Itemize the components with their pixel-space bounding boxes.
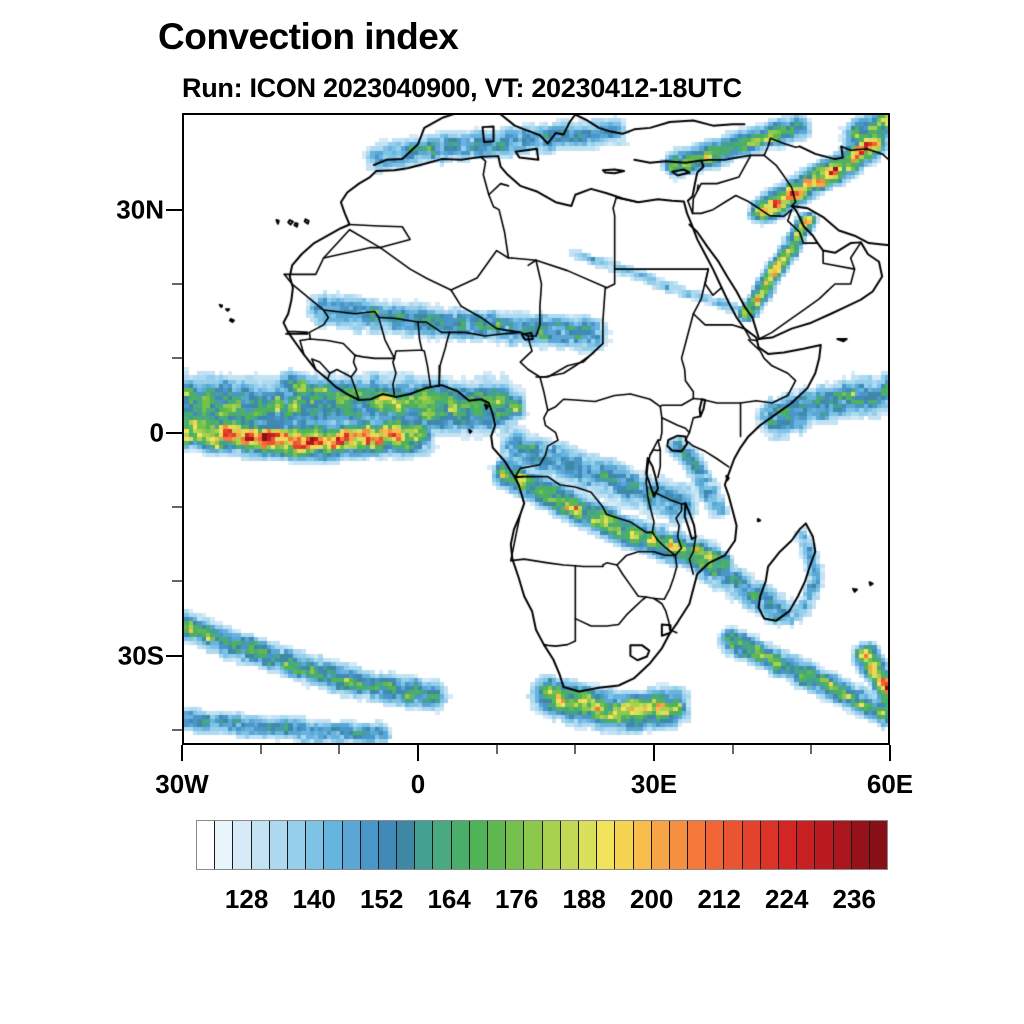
colorbar-tick-label: 188 bbox=[562, 884, 605, 915]
colorbar-swatch bbox=[470, 821, 488, 869]
colorbar-tick-label: 164 bbox=[427, 884, 470, 915]
colorbar-tick-label: 128 bbox=[225, 884, 268, 915]
y-major-tick bbox=[166, 209, 182, 211]
x-minor-tick bbox=[810, 745, 812, 754]
colorbar-swatch bbox=[797, 821, 815, 869]
x-tick-label: 30E bbox=[631, 769, 677, 800]
colorbar-swatch bbox=[452, 821, 470, 869]
x-tick-label: 0 bbox=[411, 769, 425, 800]
y-major-tick bbox=[166, 655, 182, 657]
x-minor-tick bbox=[496, 745, 498, 754]
map-plot-area bbox=[182, 113, 890, 745]
colorbar-swatch bbox=[652, 821, 670, 869]
colorbar-swatch bbox=[834, 821, 852, 869]
colorbar-swatch bbox=[743, 821, 761, 869]
colorbar-swatch bbox=[670, 821, 688, 869]
y-minor-tick bbox=[172, 506, 182, 508]
page-title: Convection index bbox=[158, 16, 458, 58]
y-minor-tick bbox=[172, 283, 182, 285]
y-major-tick bbox=[166, 432, 182, 434]
x-major-tick bbox=[889, 745, 891, 761]
x-minor-tick bbox=[260, 745, 262, 754]
y-tick-label: 30S bbox=[92, 640, 164, 671]
colorbar-tick-label: 152 bbox=[360, 884, 403, 915]
convection-index-figure: Convection index Run: ICON 2023040900, V… bbox=[0, 0, 1024, 1024]
y-tick-label: 0 bbox=[92, 417, 164, 448]
y-minor-tick bbox=[172, 580, 182, 582]
colorbar-swatch bbox=[306, 821, 324, 869]
colorbar-swatch bbox=[324, 821, 342, 869]
colorbar-swatch bbox=[634, 821, 652, 869]
colorbar-swatch bbox=[724, 821, 742, 869]
colorbar-tick-label: 236 bbox=[833, 884, 876, 915]
y-minor-tick bbox=[172, 729, 182, 731]
x-major-tick bbox=[417, 745, 419, 761]
colorbar-swatch bbox=[415, 821, 433, 869]
colorbar-swatch bbox=[361, 821, 379, 869]
x-tick-label: 60E bbox=[867, 769, 913, 800]
colorbar-swatch bbox=[288, 821, 306, 869]
colorbar-swatch bbox=[761, 821, 779, 869]
colorbar-swatch bbox=[506, 821, 524, 869]
colorbar-swatch bbox=[597, 821, 615, 869]
colorbar-swatches bbox=[196, 820, 888, 870]
x-minor-tick bbox=[574, 745, 576, 754]
x-major-tick bbox=[653, 745, 655, 761]
chart-subtitle: Run: ICON 2023040900, VT: 20230412-18UTC bbox=[182, 73, 742, 104]
colorbar-tick-label: 176 bbox=[495, 884, 538, 915]
colorbar-swatch bbox=[433, 821, 451, 869]
colorbar-swatch bbox=[779, 821, 797, 869]
colorbar-swatch bbox=[706, 821, 724, 869]
colorbar-swatch bbox=[215, 821, 233, 869]
colorbar-tick-label: 212 bbox=[698, 884, 741, 915]
colorbar-tick-label: 140 bbox=[292, 884, 335, 915]
colorbar-swatch bbox=[688, 821, 706, 869]
colorbar-swatch bbox=[488, 821, 506, 869]
colorbar-swatch bbox=[524, 821, 542, 869]
colorbar-swatch bbox=[197, 821, 215, 869]
colorbar-swatch bbox=[379, 821, 397, 869]
y-tick-label: 30N bbox=[92, 194, 164, 225]
x-minor-tick bbox=[338, 745, 340, 754]
colorbar bbox=[196, 820, 888, 870]
x-tick-label: 30W bbox=[155, 769, 208, 800]
colorbar-swatch bbox=[852, 821, 870, 869]
y-minor-tick bbox=[172, 357, 182, 359]
colorbar-swatch bbox=[270, 821, 288, 869]
x-minor-tick bbox=[732, 745, 734, 754]
colorbar-tick-label: 200 bbox=[630, 884, 673, 915]
colorbar-swatch bbox=[561, 821, 579, 869]
colorbar-swatch bbox=[397, 821, 415, 869]
colorbar-swatch bbox=[252, 821, 270, 869]
colorbar-swatch bbox=[615, 821, 633, 869]
colorbar-swatch bbox=[233, 821, 251, 869]
x-major-tick bbox=[181, 745, 183, 761]
colorbar-swatch bbox=[543, 821, 561, 869]
colorbar-swatch bbox=[343, 821, 361, 869]
country-borders-overlay bbox=[182, 113, 890, 745]
colorbar-tick-label: 224 bbox=[765, 884, 808, 915]
colorbar-swatch bbox=[815, 821, 833, 869]
colorbar-swatch bbox=[870, 821, 887, 869]
colorbar-swatch bbox=[579, 821, 597, 869]
